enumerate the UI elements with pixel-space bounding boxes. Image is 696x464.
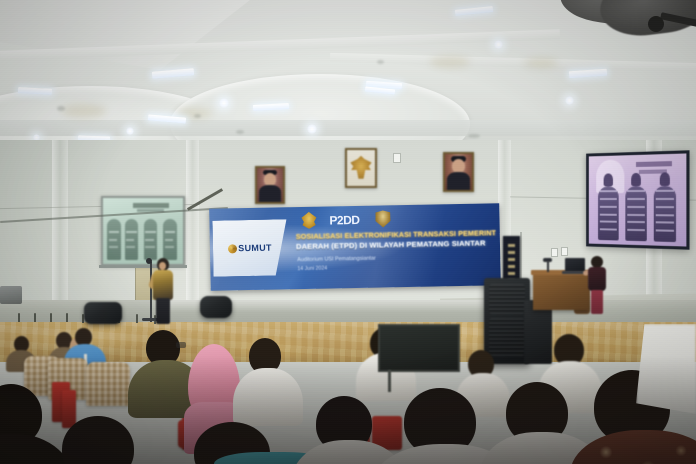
slide-column	[625, 186, 646, 242]
operator-torso	[588, 267, 606, 291]
stage-lip-pin	[66, 313, 68, 322]
ceiling-stain	[524, 58, 558, 68]
slide-column	[654, 185, 676, 242]
president-portrait	[255, 166, 285, 204]
wall-outlet[interactable]	[561, 247, 568, 256]
stage-monitor-speaker	[200, 296, 232, 318]
stage-lip-pin	[34, 313, 36, 322]
slide-avatar	[631, 173, 640, 185]
ceiling-fan-hub	[648, 16, 664, 32]
downlight	[307, 124, 317, 134]
sumut-logo-text: SUMUT	[238, 243, 272, 254]
presenter-body	[153, 270, 173, 300]
eyeglasses-icon	[176, 342, 186, 348]
left-projection-screen	[101, 196, 185, 266]
operator-at-podium	[588, 256, 606, 314]
right-slide-content	[589, 153, 687, 246]
ceiling-vent	[377, 60, 384, 64]
ceiling-step-right	[330, 53, 696, 72]
auditorium-seminar-photo: SUMUT P2DD SOSIALISASI ELEKTRONIFIKASI T…	[0, 0, 696, 464]
presenter-at-microphone	[152, 258, 174, 324]
wooden-podium	[533, 272, 589, 310]
wall-outlet[interactable]	[551, 248, 558, 257]
side-table	[0, 286, 22, 304]
tube-light	[455, 6, 493, 16]
event-banner: SUMUT P2DD SOSIALISASI ELEKTRONIFIKASI T…	[209, 203, 501, 291]
stage-monitor-speaker	[84, 302, 122, 324]
audience-shoulders	[570, 430, 696, 464]
speaker-grill	[489, 284, 525, 314]
sumut-logo: SUMUT	[228, 243, 272, 254]
downlight	[565, 96, 574, 105]
slide-column	[144, 219, 158, 260]
slide-avatar	[604, 174, 613, 186]
ceiling-stain	[430, 56, 470, 68]
wall-pilaster	[52, 140, 68, 315]
ceiling	[0, 0, 696, 152]
slide-avatar	[660, 173, 670, 186]
vice-president-portrait	[443, 152, 474, 192]
right-projection-screen	[586, 150, 689, 249]
banner-date: 14 Juni 2024	[297, 266, 327, 273]
downlight	[494, 40, 503, 49]
slide-title-bar	[636, 161, 672, 167]
board-leg	[388, 370, 391, 392]
sumut-logo-panel: SUMUT	[212, 219, 287, 276]
wall-pilaster	[186, 140, 199, 310]
slide-column	[125, 219, 139, 260]
p2dd-logo-icon: P2DD	[323, 211, 365, 229]
portrait-body	[447, 172, 471, 190]
audience-shoulders	[233, 368, 303, 426]
white-drape	[636, 324, 696, 414]
sumut-mark-icon	[228, 244, 237, 253]
stage-lip-pin	[18, 313, 20, 322]
ceiling-slope	[0, 0, 250, 70]
wall-notice-board	[378, 324, 460, 372]
operator-legs	[591, 290, 603, 314]
ceiling-vent	[194, 114, 201, 118]
garuda-bird-icon	[350, 156, 371, 179]
downlight	[219, 98, 229, 108]
ceiling-stain	[62, 104, 106, 118]
slide-title-bar	[133, 203, 168, 208]
slide-column	[163, 219, 177, 260]
audience-area	[0, 330, 696, 464]
stage-lip-pin	[50, 313, 52, 322]
ceiling-vent	[236, 130, 244, 134]
presenter-laptop[interactable]	[565, 258, 585, 272]
slide-column	[107, 219, 121, 260]
portrait-body	[259, 185, 282, 202]
plastic-chair[interactable]	[62, 390, 76, 428]
left-slide-content	[103, 198, 183, 264]
slide-column	[598, 186, 619, 241]
podium-lamp-stem	[547, 261, 549, 272]
presenter-face	[159, 262, 166, 270]
presenter-legs	[156, 298, 170, 324]
stage-lip-pin	[136, 314, 138, 323]
downlight	[126, 127, 134, 135]
tube-light	[569, 69, 607, 79]
tube-light	[152, 68, 194, 79]
ceiling-vent	[468, 134, 480, 138]
ceiling-band	[0, 120, 696, 136]
wall-switch[interactable]	[393, 153, 401, 163]
rattan-chair[interactable]	[86, 362, 130, 406]
garuda-pancasila-emblem-icon	[345, 148, 377, 188]
ceiling-vent	[57, 106, 65, 111]
